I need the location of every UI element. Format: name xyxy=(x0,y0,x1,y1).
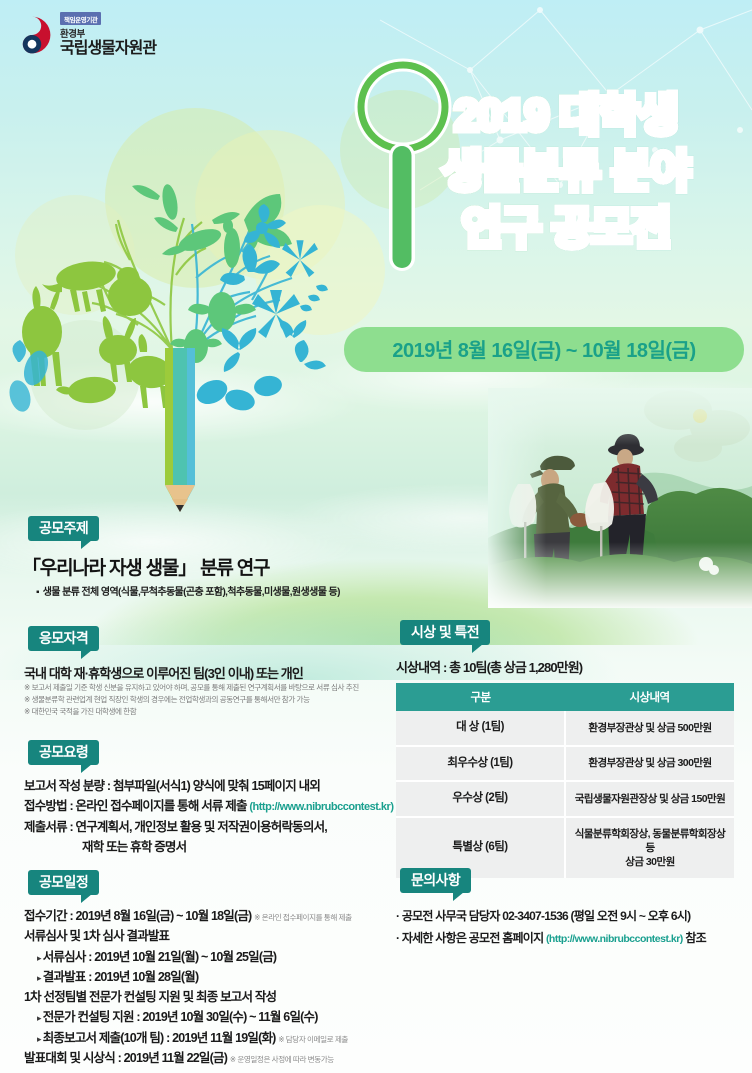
contact-phone-line: · 공모전 사무국 담당자 02-3407-1536 (평일 오전 9시 ~ 오… xyxy=(396,905,746,927)
table-row: 대 상 (1팀) 환경부장관상 및 상금 500만원 xyxy=(396,711,734,746)
guideline-line-3: 제출서류 : 연구계획서, 개인정보 활용 및 저작권이용허락동의서, xyxy=(24,817,404,837)
logo-ministry-label: 환경부 xyxy=(60,26,156,40)
logo-responsible-agency-badge: 책임운영기관 xyxy=(60,12,101,25)
title-line-2: 생물분류 분야 xyxy=(380,144,752,200)
section-badge-guidelines: 공모요령 xyxy=(28,740,99,765)
taegeuk-logo-icon xyxy=(12,15,52,55)
schedule-item-value: 2019년 8월 16일(금) ~ 10월 18일(금) xyxy=(76,909,252,923)
award-detail: 국립생물자원관장상 및 상금 150만원 xyxy=(565,781,734,817)
title-line-1: 2019 대학생 xyxy=(380,88,752,144)
eligibility-note-1: ※ 보고서 제출일 기준 학생 신분을 유지하고 있어야 하며, 공모를 통해 … xyxy=(24,682,384,694)
awards-table: 구분 시상내역 대 상 (1팀) 환경부장관상 및 상금 500만원 최우수상 … xyxy=(396,683,734,878)
title-line-3: 연구 공모전 xyxy=(380,201,752,257)
schedule-item-note: ※ 온라인 접수페이지를 통해 제출 xyxy=(254,913,352,922)
table-row: 최우수상 (1팀) 환경부장관상 및 상금 300만원 xyxy=(396,746,734,782)
schedule-item-label: 결과발표 : xyxy=(43,970,95,984)
section-badge-theme: 공모주제 xyxy=(28,516,99,541)
section-badge-eligibility: 응모자격 xyxy=(28,626,99,651)
awards-summary: 시상내역 : 총 10팀(총 상금 1,280만원) xyxy=(396,657,582,676)
schedule-item-value: 2019년 11월 19일(화) xyxy=(172,1031,275,1045)
bullet-arrow-icon: ▸ xyxy=(37,973,41,983)
schedule-item: ▸전문가 컨설팅 지원 : 2019년 10월 30일(수) ~ 11월 6일(… xyxy=(24,1007,414,1027)
pencil-tree-illustration xyxy=(0,100,360,520)
schedule-item: ▸최종보고서 제출(10개 팀) : 2019년 11월 19일(화) ※ 담당… xyxy=(24,1028,414,1048)
schedule-item: ▸결과발표 : 2019년 10월 28일(월) xyxy=(24,967,414,987)
awards-col-category: 구분 xyxy=(396,683,565,711)
date-banner: 2019년 8월 16일(금) ~ 10월 18일(금) xyxy=(344,327,744,372)
poster-canvas: 책임운영기관 환경부 국립생물자원관 xyxy=(0,0,752,1073)
schedule-item: 1차 선정팀별 전문가 컨설팅 지원 및 최종 보고서 작성 xyxy=(24,987,414,1007)
schedule-item-label: 전문가 컨설팅 지원 : xyxy=(43,1010,143,1024)
table-row: 우수상 (2팀) 국립생물자원관장상 및 상금 150만원 xyxy=(396,781,734,817)
schedule-item: ▸서류심사 : 2019년 10월 21일(월) ~ 10월 25일(금) xyxy=(24,947,414,967)
bullet-arrow-icon: ▸ xyxy=(37,1013,41,1023)
schedule-item-note: ※ 담당자 이메일로 제출 xyxy=(278,1035,348,1044)
section-badge-contact: 문의사항 xyxy=(400,868,471,893)
schedule-item-value: 2019년 10월 28일(월) xyxy=(94,970,198,984)
awards-col-detail: 시상내역 xyxy=(565,683,734,711)
bullet-arrow-icon: ▸ xyxy=(37,953,41,963)
section-badge-awards: 시상 및 특전 xyxy=(400,620,490,645)
contact-block: · 공모전 사무국 담당자 02-3407-1536 (평일 오전 9시 ~ 오… xyxy=(396,905,746,950)
schedule-item: 서류심사 및 1차 심사 결과발표 xyxy=(24,926,414,946)
schedule-item-note: ※ 운영일정은 사정에 따라 변동가능 xyxy=(230,1055,334,1064)
theme-headline: 「우리나라 자생 생물」 분류 연구 xyxy=(22,553,269,580)
photo-vignette xyxy=(488,388,752,608)
schedule-item-value: 2019년 10월 21일(월) ~ 10월 25일(금) xyxy=(94,950,276,964)
contact-website-line: · 자세한 사항은 공모전 홈페이지 (http://www.nibrubcco… xyxy=(396,927,746,949)
guideline-line-2-label: 접수방법 : 온라인 접수페이지를 통해 서류 제출 xyxy=(24,799,247,813)
contact-url[interactable]: (http://www.nibrubccontest.kr) xyxy=(546,933,683,945)
contact-website-prefix: · 자세한 사항은 공모전 홈페이지 xyxy=(396,931,546,945)
schedule-item-label: 접수기간 : xyxy=(24,909,76,923)
schedule-item: 접수기간 : 2019년 8월 16일(금) ~ 10월 18일(금) ※ 온라… xyxy=(24,906,414,926)
theme-subnote-marker: ▪ xyxy=(36,587,39,598)
field-researchers-photo xyxy=(488,388,752,608)
poster-title: 2019 대학생 생물분류 분야 연구 공모전 xyxy=(380,88,752,257)
bullet-arrow-icon: ▸ xyxy=(37,1034,41,1044)
schedule-list: 접수기간 : 2019년 8월 16일(금) ~ 10월 18일(금) ※ 온라… xyxy=(24,906,414,1068)
theme-subnote: 생물 분류 전체 영역(식물,무척추동물(곤충 포함),척추동물,미생물,원생생… xyxy=(43,587,340,598)
awards-table-header-row: 구분 시상내역 xyxy=(396,683,734,711)
schedule-item: 발표대회 및 시상식 : 2019년 11월 22일(금) ※ 운영일정은 사정… xyxy=(24,1048,414,1068)
eligibility-note-3: ※ 대한민국 국적을 가진 대학생에 한함 xyxy=(24,706,384,718)
eligibility-note-2: ※ 생물분류학 관련업계 현업 직장인 학생의 경우에는 전업학생과의 공동연구… xyxy=(24,694,384,706)
award-detail: 환경부장관상 및 상금 300만원 xyxy=(565,746,734,782)
award-category: 대 상 (1팀) xyxy=(396,711,565,746)
logo-organization-label: 국립생물자원관 xyxy=(60,41,156,58)
schedule-item-label: 1차 선정팀별 전문가 컨설팅 지원 및 최종 보고서 작성 xyxy=(24,990,276,1004)
award-detail: 환경부장관상 및 상금 500만원 xyxy=(565,711,734,746)
contact-website-suffix: 참조 xyxy=(683,931,706,945)
section-badge-schedule: 공모일정 xyxy=(28,870,99,895)
schedule-item-value: 2019년 10월 30일(수) ~ 11월 6일(수) xyxy=(142,1010,317,1024)
schedule-item-label: 서류심사 및 1차 심사 결과발표 xyxy=(24,929,169,943)
nibr-logo: 책임운영기관 환경부 국립생물자원관 xyxy=(12,12,156,58)
award-detail: 식물분류학회장상, 동물분류학회장상 등 상금 30만원 xyxy=(565,817,734,879)
award-category: 최우수상 (1팀) xyxy=(396,746,565,782)
schedule-item-value: 2019년 11월 22일(금) xyxy=(124,1051,227,1065)
guideline-line-1: 보고서 작성 분량 : 첨부파일(서식1) 양식에 맞춰 15페이지 내외 xyxy=(24,776,404,796)
guideline-line-4: 재학 또는 휴학 증명서 xyxy=(24,837,404,857)
eligibility-headline: 국내 대학 재·휴학생으로 이루어진 팀(3인 이내) 또는 개인 xyxy=(24,663,303,682)
schedule-item-label: 발표대회 및 시상식 : xyxy=(24,1051,124,1065)
guideline-line-2: 접수방법 : 온라인 접수페이지를 통해 서류 제출 (http://www.n… xyxy=(24,796,404,817)
submission-url[interactable]: (http://www.nibrubccontest.kr) xyxy=(249,801,393,813)
schedule-item-label: 최종보고서 제출(10개 팀) : xyxy=(43,1031,172,1045)
award-category: 우수상 (2팀) xyxy=(396,781,565,817)
schedule-item-label: 서류심사 : xyxy=(43,950,95,964)
pencil-trunk xyxy=(165,348,195,512)
